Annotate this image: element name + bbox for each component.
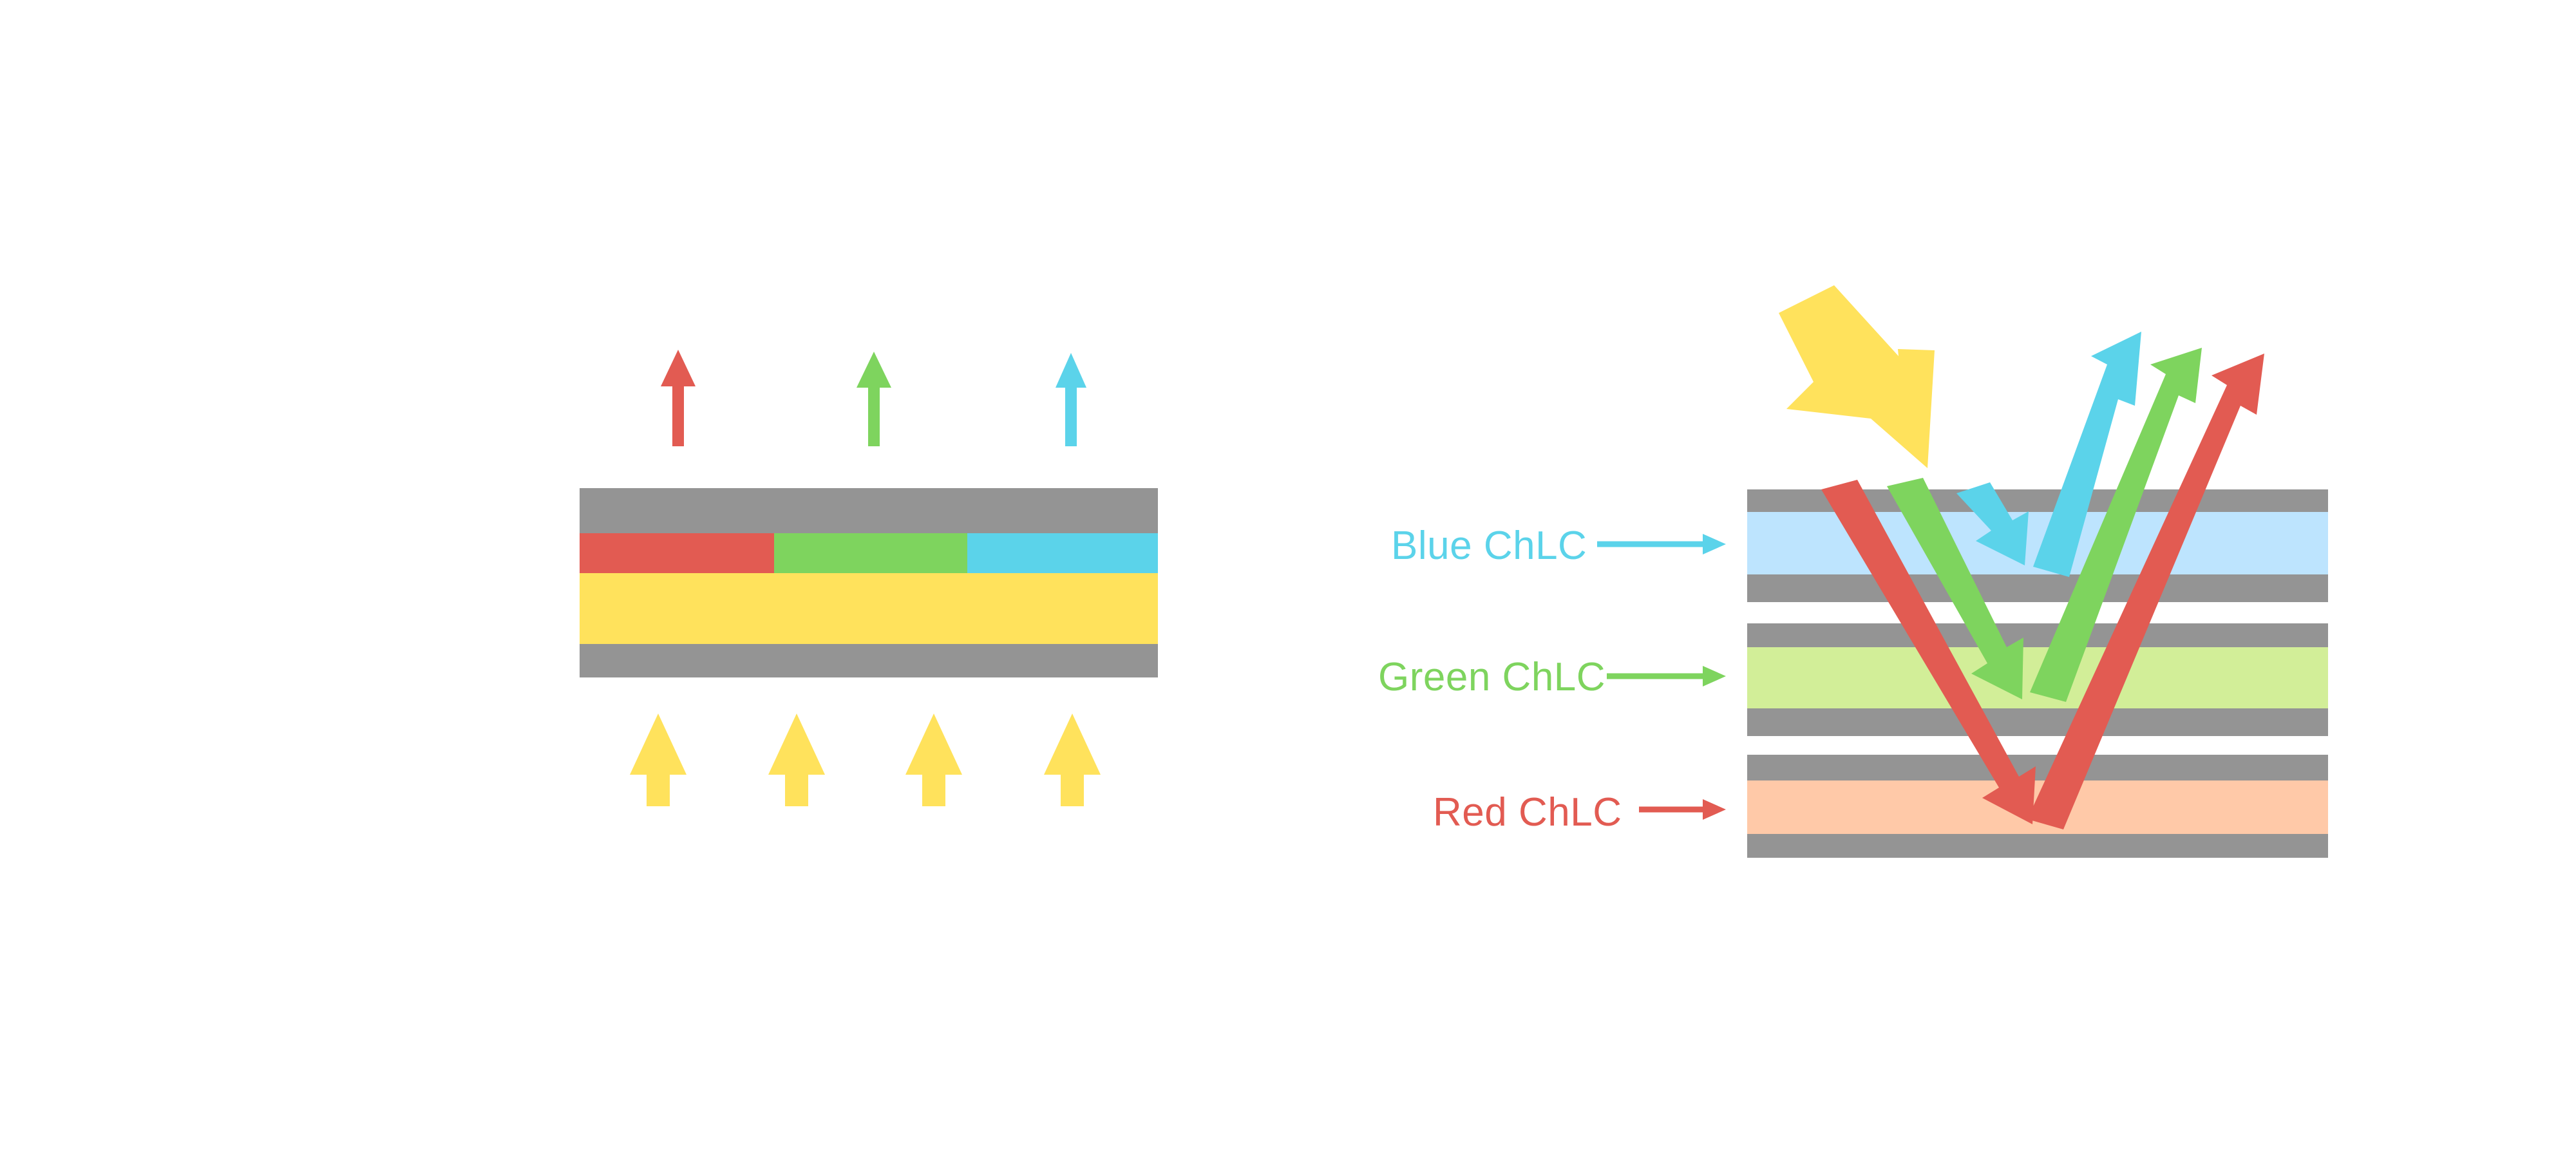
left-bottom-electrode-layer — [580, 644, 1158, 677]
green-cell-top-substrate — [1747, 623, 2328, 647]
green-chlc-label: Green ChLC — [1378, 655, 1605, 699]
red-cell-top-substrate — [1747, 755, 2328, 780]
chlc-display-diagram: Blue ChLC Green ChLC Red ChLC — [0, 0, 2576, 1154]
left-yellow-backlight-layer — [580, 573, 1158, 644]
left-red-filter-segment — [580, 533, 774, 573]
green-cell-bottom-substrate — [1747, 708, 2328, 736]
blue-chlc-label: Blue ChLC — [1391, 524, 1587, 568]
red-chlc-label: Red ChLC — [1433, 790, 1622, 835]
figure-root: Blue ChLC Green ChLC Red ChLC — [0, 0, 2576, 1154]
red-cell-bottom-substrate — [1747, 834, 2328, 858]
blue-cell-bottom-substrate — [1747, 574, 2328, 602]
left-green-filter-segment — [774, 533, 967, 573]
left-blue-filter-segment — [967, 533, 1158, 573]
left-top-electrode-layer — [580, 488, 1158, 533]
left-layer-stack — [580, 488, 1158, 677]
